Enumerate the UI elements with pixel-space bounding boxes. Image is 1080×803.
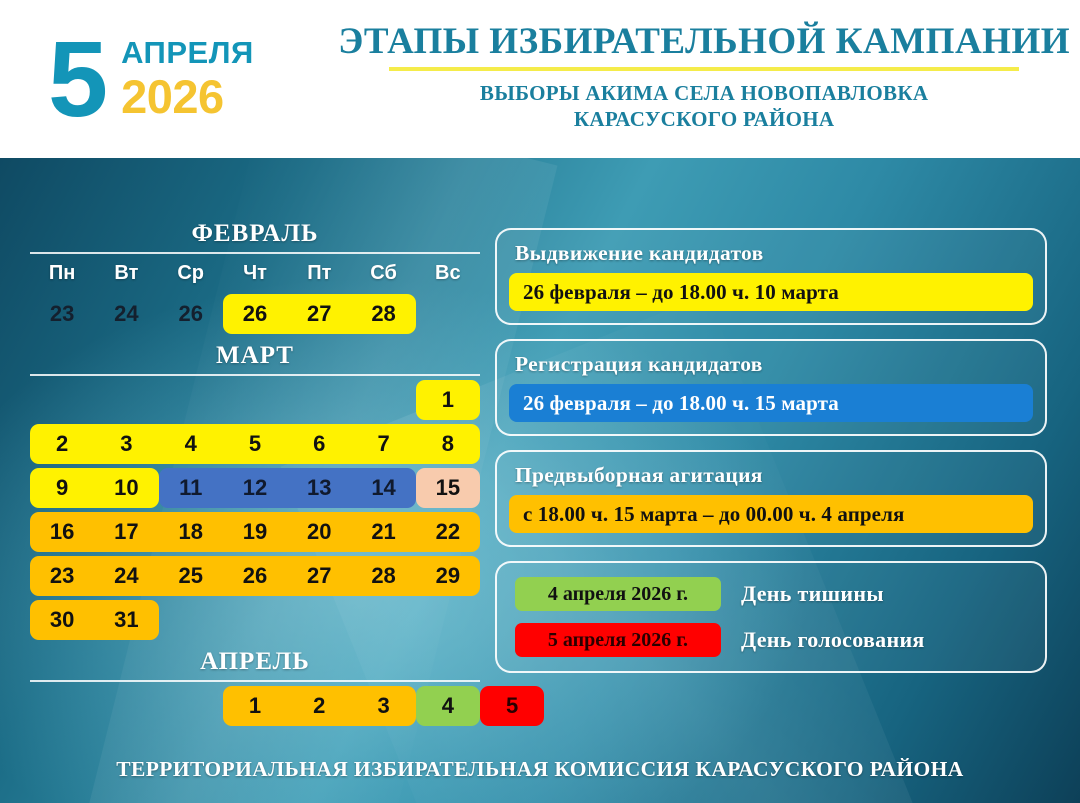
calendar-day-cell[interactable]: 22 <box>416 519 480 545</box>
election-day-number: 5 <box>48 33 105 125</box>
legend-row: 4 апреля 2026 г.День тишины <box>509 577 1033 611</box>
calendar-day-cell[interactable]: 1 <box>223 693 287 719</box>
calendar-weekday-5: Сб <box>351 262 415 285</box>
calendar-weekday-1: Вт <box>94 262 158 285</box>
page-subtitle-line-2: КАРАСУСКОГО РАЙОНА <box>338 106 1070 132</box>
stages-column: Выдвижение кандидатов26 февраля – до 18.… <box>495 228 1047 687</box>
calendar-day-cell[interactable]: 31 <box>94 607 158 633</box>
calendar-day-cell[interactable]: 13 <box>287 475 351 501</box>
calendar-day-cell[interactable]: 26 <box>159 301 223 327</box>
calendar-column: ФЕВРАЛЬПнВтСрЧтПтСбВс232426262728МАРТ123… <box>30 220 480 726</box>
stage-card-title: Предвыборная агитация <box>515 463 1033 488</box>
poster-root: 5 АПРЕЛЯ 2026 ЭТАПЫ ИЗБИРАТЕЛЬНОЙ КАМПАН… <box>0 0 1080 803</box>
page-title: ЭТАПЫ ИЗБИРАТЕЛЬНОЙ КАМПАНИИ <box>338 22 1070 63</box>
calendar-day-cell[interactable]: 4 <box>159 431 223 457</box>
election-month-label: АПРЕЛЯ <box>121 37 254 68</box>
legend-row: 5 апреля 2026 г.День голосования <box>509 623 1033 657</box>
calendar-day-cell[interactable]: 15 <box>416 475 480 501</box>
calendar-month-rule <box>30 680 480 682</box>
calendar-weekday-2: Ср <box>159 262 223 285</box>
calendar-day-cell[interactable]: 25 <box>159 563 223 589</box>
calendar-day-cell[interactable]: 7 <box>351 431 415 457</box>
calendar-week-row: 12345 <box>30 686 480 726</box>
calendar-month-title: МАРТ <box>30 342 480 370</box>
calendar-day-cell[interactable]: 23 <box>30 301 94 327</box>
calendar-month-rule <box>30 252 480 254</box>
footer-commission-name: ТЕРРИТОРИАЛЬНАЯ ИЗБИРАТЕЛЬНАЯ КОМИССИЯ К… <box>116 757 963 782</box>
calendar-month-spacer <box>30 640 480 648</box>
page-subtitle-line-1: ВЫБОРЫ АКИМА СЕЛА НОВОПАВЛОВКА <box>338 80 1070 106</box>
calendar-weekday-0: Пн <box>30 262 94 285</box>
calendar-day-cell[interactable]: 3 <box>94 431 158 457</box>
calendar-day-cell[interactable]: 27 <box>287 563 351 589</box>
calendar-day-cell[interactable]: 6 <box>287 431 351 457</box>
legend-label: День голосования <box>741 627 925 653</box>
calendar-day-cell[interactable]: 30 <box>30 607 94 633</box>
calendar-day-cell[interactable]: 26 <box>223 563 287 589</box>
calendar-month-spacer <box>30 334 480 342</box>
poster-header: 5 АПРЕЛЯ 2026 ЭТАПЫ ИЗБИРАТЕЛЬНОЙ КАМПАН… <box>0 0 1080 158</box>
calendar-special-day-label[interactable]: 5 <box>480 686 544 726</box>
calendar-week-row: 9101112131415 <box>30 468 480 508</box>
calendar-month-title: ФЕВРАЛЬ <box>30 220 480 248</box>
calendar-week-row: 2345678 <box>30 424 480 464</box>
stage-card-period-bar: 26 февраля – до 18.00 ч. 10 марта <box>509 273 1033 311</box>
calendar-day-cell[interactable]: 12 <box>223 475 287 501</box>
election-year-label: 2026 <box>121 72 254 121</box>
legend-card: 4 апреля 2026 г.День тишины5 апреля 2026… <box>495 561 1047 673</box>
legend-date-chip: 4 апреля 2026 г. <box>515 577 721 611</box>
calendar-day-cell[interactable]: 21 <box>351 519 415 545</box>
stage-card: Регистрация кандидатов26 февраля – до 18… <box>495 339 1047 436</box>
calendar-day-cell[interactable]: 23 <box>30 563 94 589</box>
calendar-day-cell[interactable]: 1 <box>416 387 480 413</box>
calendar-weekday-6: Вс <box>416 262 480 285</box>
header-title-block: ЭТАПЫ ИЗБИРАТЕЛЬНОЙ КАМПАНИИ ВЫБОРЫ АКИМ… <box>338 22 1080 132</box>
poster-body: ФЕВРАЛЬПнВтСрЧтПтСбВс232426262728МАРТ123… <box>0 158 1080 803</box>
stage-card: Выдвижение кандидатов26 февраля – до 18.… <box>495 228 1047 325</box>
legend-label: День тишины <box>741 581 884 607</box>
stage-card-period-bar: 26 февраля – до 18.00 ч. 15 марта <box>509 384 1033 422</box>
calendar-week-row: 16171819202122 <box>30 512 480 552</box>
calendar-week-row: 232426262728 <box>30 294 480 334</box>
calendar-day-cell[interactable]: 19 <box>223 519 287 545</box>
calendar-day-cell[interactable]: 9 <box>30 475 94 501</box>
election-date-block: 5 АПРЕЛЯ 2026 <box>48 33 338 125</box>
calendar-day-cell[interactable]: 24 <box>94 301 158 327</box>
calendar-day-cell[interactable]: 14 <box>351 475 415 501</box>
calendar-week-row: 1 <box>30 380 480 420</box>
calendar-day-cell[interactable]: 8 <box>416 431 480 457</box>
calendar-day-cell[interactable]: 2 <box>30 431 94 457</box>
calendar-special-day-label[interactable]: 4 <box>416 686 480 726</box>
calendar-day-cell[interactable]: 10 <box>94 475 158 501</box>
election-month-year: АПРЕЛЯ 2026 <box>121 37 254 121</box>
calendar-month-title: АПРЕЛЬ <box>30 648 480 676</box>
calendar-day-cell[interactable]: 3 <box>351 693 415 719</box>
calendar-day-cell[interactable]: 5 <box>223 431 287 457</box>
legend-date-chip: 5 апреля 2026 г. <box>515 623 721 657</box>
poster-footer: ТЕРРИТОРИАЛЬНАЯ ИЗБИРАТЕЛЬНАЯ КОМИССИЯ К… <box>0 735 1080 803</box>
calendar-day-cell[interactable]: 20 <box>287 519 351 545</box>
calendar-day-cell[interactable]: 16 <box>30 519 94 545</box>
stage-card-period-bar: с 18.00 ч. 15 марта – до 00.00 ч. 4 апре… <box>509 495 1033 533</box>
calendar-day-cell[interactable]: 2 <box>287 693 351 719</box>
calendar-month-rule <box>30 374 480 376</box>
calendar-week-row: 3031 <box>30 600 480 640</box>
calendar-day-cell[interactable]: 28 <box>351 563 415 589</box>
calendar-week-row: 23242526272829 <box>30 556 480 596</box>
calendar-day-cell[interactable]: 28 <box>351 301 415 327</box>
title-underline-rule <box>389 67 1019 71</box>
stage-card-title: Регистрация кандидатов <box>515 352 1033 377</box>
calendar-day-cell[interactable]: 26 <box>223 301 287 327</box>
calendar-day-cell[interactable]: 18 <box>159 519 223 545</box>
page-subtitle: ВЫБОРЫ АКИМА СЕЛА НОВОПАВЛОВКА КАРАСУСКО… <box>338 80 1070 133</box>
calendar-day-cell[interactable]: 24 <box>94 563 158 589</box>
stage-card: Предвыборная агитацияс 18.00 ч. 15 марта… <box>495 450 1047 547</box>
calendar-day-cell[interactable]: 29 <box>416 563 480 589</box>
calendar-weekday-4: Пт <box>287 262 351 285</box>
calendar-weekday-header: ПнВтСрЧтПтСбВс <box>30 256 480 290</box>
calendar-day-cell[interactable]: 17 <box>94 519 158 545</box>
calendar-day-cell[interactable]: 27 <box>287 301 351 327</box>
stage-card-title: Выдвижение кандидатов <box>515 241 1033 266</box>
calendar-weekday-3: Чт <box>223 262 287 285</box>
calendar-day-cell[interactable]: 11 <box>159 475 223 501</box>
